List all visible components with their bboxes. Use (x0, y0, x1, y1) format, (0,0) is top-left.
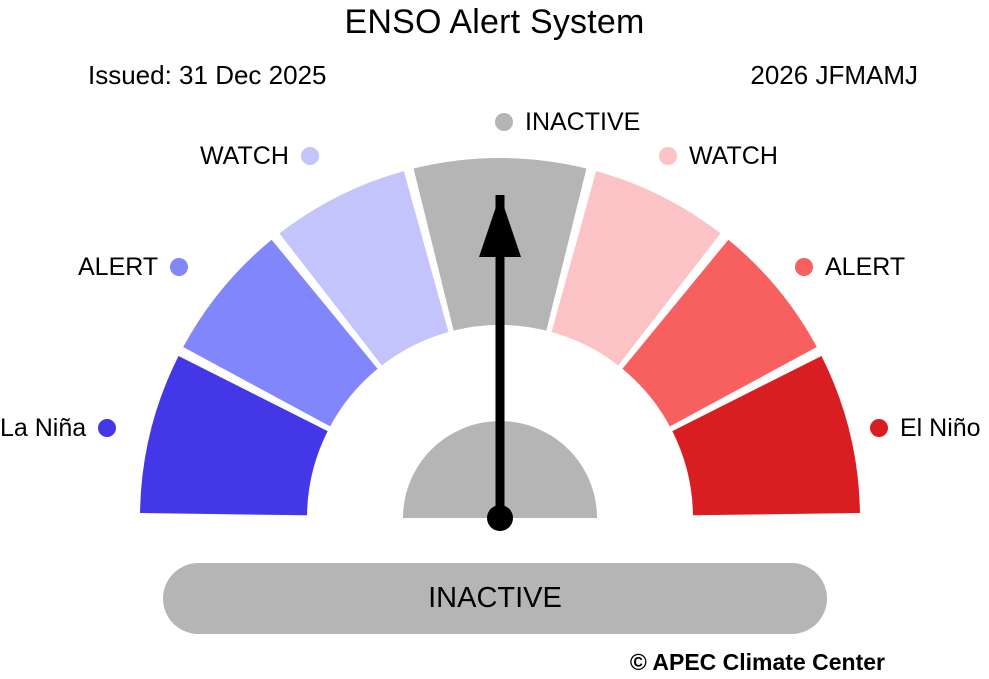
legend-dot-inactive (495, 113, 513, 131)
legend-item-el-nino: El Niño (870, 414, 981, 442)
legend-label-inactive: INACTIVE (525, 108, 640, 136)
copyright-notice: © APEC Climate Center (630, 648, 885, 676)
legend-item-inactive: INACTIVE (495, 108, 640, 136)
status-banner-label: INACTIVE (428, 582, 562, 615)
legend-item-el-nino-watch: WATCH (659, 142, 778, 170)
legend-item-el-nino-alert: ALERT (795, 253, 905, 281)
legend-label-la-nina: La Niña (0, 414, 86, 442)
legend-item-la-nina-alert: ALERT (78, 253, 188, 281)
legend-dot-el-nino (870, 419, 888, 437)
legend-label-el-nino-alert: ALERT (825, 253, 905, 281)
legend-dot-la-nina (98, 419, 116, 437)
legend-label-la-nina-alert: ALERT (78, 253, 158, 281)
enso-alert-gauge-figure: ENSO Alert System Issued: 31 Dec 2025 20… (0, 0, 989, 679)
needle-pivot-dot (487, 505, 513, 531)
legend-item-la-nina-watch: WATCH (200, 142, 319, 170)
legend-dot-el-nino-alert (795, 258, 813, 276)
legend-label-el-nino-watch: WATCH (689, 142, 778, 170)
legend-dot-el-nino-watch (659, 147, 677, 165)
status-banner: INACTIVE (163, 563, 827, 634)
legend-item-la-nina: La Niña (0, 414, 116, 442)
legend-label-el-nino: El Niño (900, 414, 981, 442)
legend-dot-la-nina-alert (170, 258, 188, 276)
legend-label-la-nina-watch: WATCH (200, 142, 289, 170)
legend-dot-la-nina-watch (301, 147, 319, 165)
